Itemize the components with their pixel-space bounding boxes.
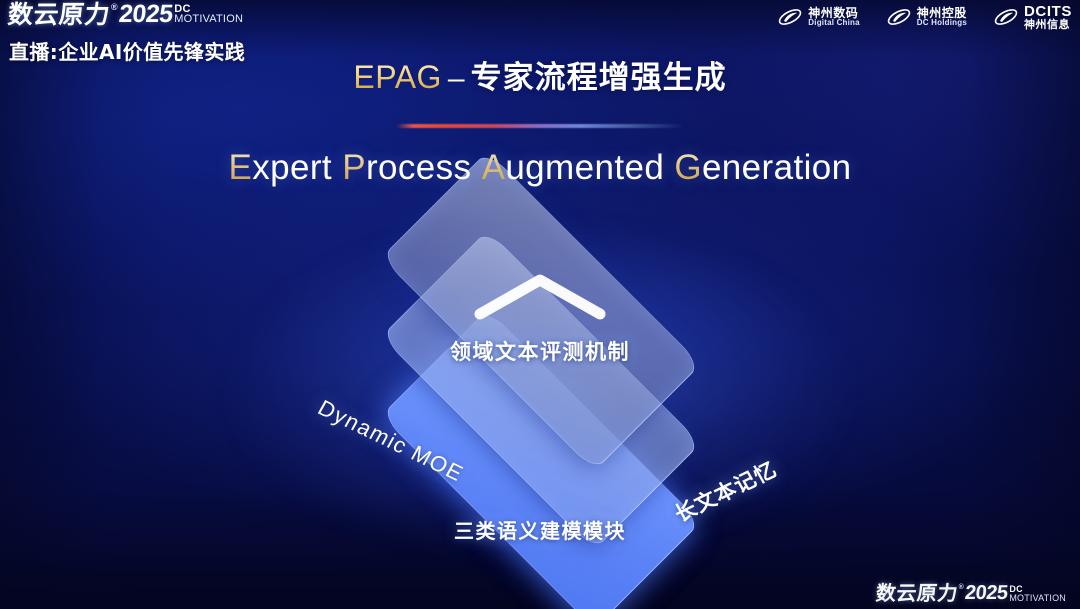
chevron-up-icon [470, 270, 610, 322]
swirl-logo-icon [777, 6, 803, 28]
diagram-label-long-text-memory: 长文本记忆 [669, 454, 782, 528]
partner-text-dcits: DCITS 神州信息 [1024, 4, 1072, 31]
partner-name-cn: 神州信息 [1024, 19, 1072, 31]
partner-name-en: DC Holdings [917, 19, 967, 27]
partner-logo-dcits: DCITS 神州信息 [993, 4, 1072, 31]
registered-mark-icon: ® [111, 3, 118, 12]
brand-logo: 数云原力 ® 2025 DC MOTIVATION [8, 2, 245, 27]
title-chinese: 专家流程增强生成 [471, 60, 727, 96]
watermark-dc-motivation: DC MOTIVATION [1009, 583, 1066, 602]
presentation-slide: 数云原力 ® 2025 DC MOTIVATION 直播:企业AI价值先锋实践 … [0, 0, 1080, 609]
watermark-name-cn: 数云原力 [875, 583, 959, 603]
swirl-logo-icon [886, 6, 912, 28]
title-divider [396, 124, 684, 128]
headline-rest-expert: xpert [252, 148, 332, 187]
headline-rest-process: rocess [366, 148, 472, 187]
watermark-year: 2025 [964, 583, 1009, 603]
headline-cap-p: P [342, 148, 366, 187]
brand-year: 2025 [117, 2, 173, 27]
footer-watermark-logo: 数云原力 ® 2025 DC MOTIVATION [876, 583, 1066, 603]
partner-text-digital-china: 神州数码 Digital China [808, 7, 860, 28]
headline-cap-a: A [482, 148, 506, 187]
brand-block: 数云原力 ® 2025 DC MOTIVATION 直播:企业AI价值先锋实践 [8, 2, 245, 65]
headline-cap-e: E [229, 148, 253, 187]
watermark-motivation-label: MOTIVATION [1009, 594, 1066, 603]
title-dash: – [448, 62, 465, 95]
partner-text-dc-holdings: 神州控股 DC Holdings [917, 7, 967, 28]
partner-name-en: DCITS [1024, 4, 1072, 19]
watermark-registered-mark-icon: ® [959, 584, 964, 591]
headline-english: Expert Process Augmented Generation [0, 148, 1080, 188]
brand-name-cn: 数云原力 [7, 2, 112, 27]
brand-motivation-label: MOTIVATION [174, 14, 243, 24]
brand-dc-motivation: DC MOTIVATION [174, 2, 243, 25]
partner-logo-dc-holdings: 神州控股 DC Holdings [886, 6, 967, 28]
layered-architecture-diagram: 三类语义建模模块 Dynamic MOE 长文本记忆 领域文本评测机制 [280, 232, 800, 562]
title-acronym: EPAG [353, 59, 442, 95]
headline-cap-g: G [674, 148, 702, 187]
swirl-logo-icon [993, 6, 1019, 28]
partner-logo-bar: 神州数码 Digital China 神州控股 DC Holdings DCIT… [777, 4, 1072, 31]
livestream-subtitle: 直播:企业AI价值先锋实践 [9, 36, 245, 65]
partner-name-en: Digital China [808, 19, 860, 27]
diagram-label-bottom: 三类语义建模模块 [454, 515, 626, 544]
diagram-label-top: 领域文本评测机制 [450, 336, 630, 366]
headline-rest-augmented: ugmented [505, 148, 664, 187]
partner-logo-digital-china: 神州数码 Digital China [777, 6, 860, 28]
headline-rest-generation: eneration [702, 148, 852, 187]
